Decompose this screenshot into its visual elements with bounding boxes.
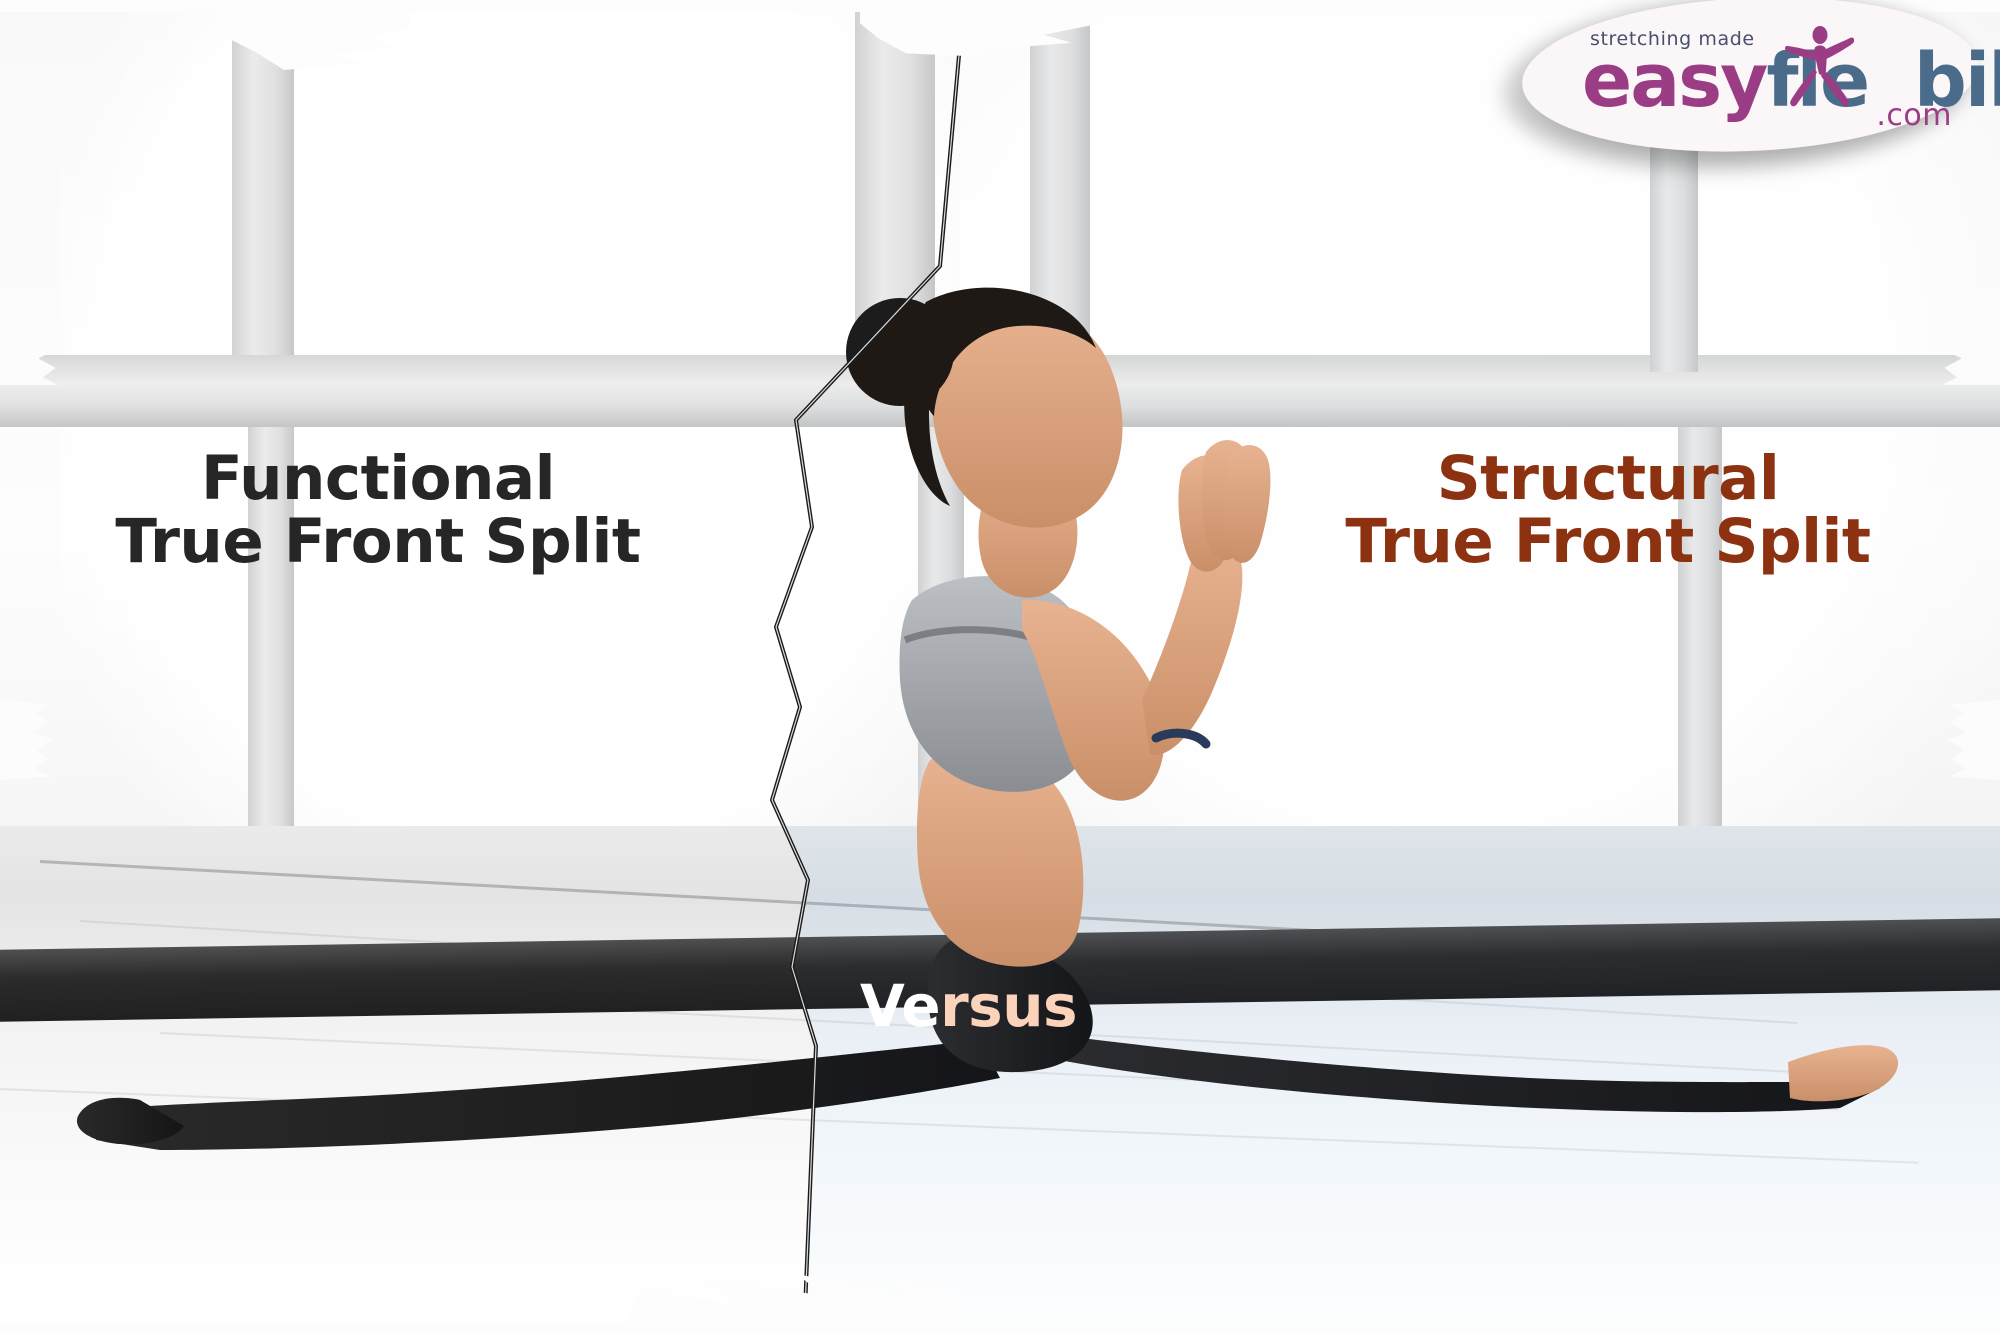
right-heading-line1: Structural <box>1228 448 1988 511</box>
versus-label: Versus <box>860 972 1077 1040</box>
logo-content: stretching made easyflexbility .com <box>1512 0 1982 169</box>
comparison-graphic: Functional True Front Split Structural T… <box>0 0 2000 1333</box>
left-heading-line1: Functional <box>28 448 728 511</box>
easyflexibility-logo[interactable]: stretching made easyflexbility .com <box>1512 0 1982 169</box>
logo-domain: .com <box>1876 98 1952 133</box>
versus-part-2: rsus <box>940 972 1077 1040</box>
logo-easy: easy <box>1582 38 1766 124</box>
left-heading: Functional True Front Split <box>28 448 728 574</box>
stretching-person-icon <box>1784 26 1854 112</box>
left-heading-line2: True Front Split <box>28 511 728 574</box>
versus-part-1: Ve <box>860 972 940 1040</box>
right-heading: Structural True Front Split <box>1228 448 1988 574</box>
right-heading-line2: True Front Split <box>1228 511 1988 574</box>
